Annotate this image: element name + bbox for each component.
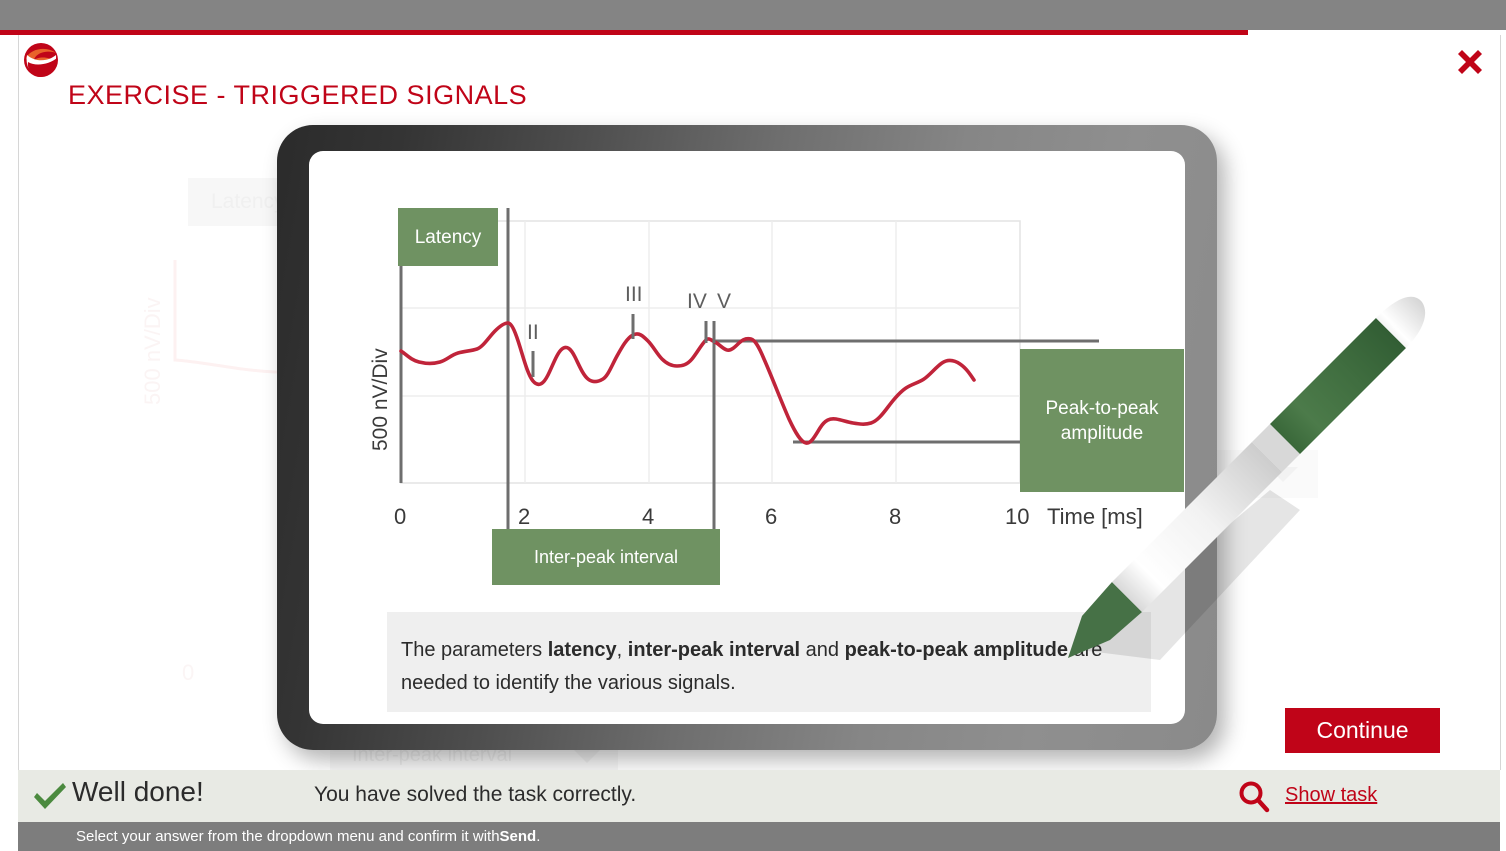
- explanation-part2: ,: [617, 639, 628, 661]
- background-x-origin-label: 0: [182, 660, 194, 686]
- x-tick-8: 8: [889, 504, 901, 530]
- background-y-axis-label: 500 nV/Div: [140, 297, 166, 405]
- explanation-box: The parameters latency, inter-peak inter…: [387, 612, 1151, 712]
- x-tick-6: 6: [765, 504, 777, 530]
- feedback-status: Well done!: [72, 776, 204, 808]
- stylus-pen-icon: [1050, 240, 1450, 685]
- hint-bar: Select your answer from the dropdown men…: [18, 822, 1500, 851]
- checkmark-icon: [32, 782, 68, 812]
- top-gray-bar: [0, 0, 1506, 30]
- continue-button[interactable]: Continue: [1285, 708, 1440, 753]
- peak-label-iv: IV: [687, 290, 707, 314]
- peak-label-iii: III: [625, 283, 643, 307]
- search-icon[interactable]: [1237, 780, 1271, 814]
- explanation-bold1: latency: [548, 639, 617, 661]
- feedback-message: You have solved the task correctly.: [314, 783, 636, 807]
- y-axis-label: 500 nV/Div: [369, 348, 393, 451]
- tag-inter-peak-interval: Inter-peak interval: [492, 529, 720, 585]
- explanation-part1: The parameters: [401, 639, 548, 661]
- hint-prefix: Select your answer from the dropdown men…: [76, 828, 500, 845]
- show-task-link[interactable]: Show task: [1285, 784, 1377, 807]
- explanation-part3: and: [800, 639, 844, 661]
- chevron-down-icon: [574, 750, 600, 763]
- explanation-bold2: inter-peak interval: [628, 639, 800, 661]
- tag-latency: Latency: [398, 208, 498, 266]
- x-tick-2: 2: [518, 504, 530, 530]
- feedback-bar: Well done! You have solved the task corr…: [18, 770, 1500, 822]
- x-tick-10: 10: [1005, 504, 1029, 530]
- peak-label-ii: II: [527, 321, 539, 345]
- hint-suffix: .: [536, 828, 540, 845]
- app-root: EXERCISE - TRIGGERED SIGNALS Latency 500…: [0, 0, 1506, 851]
- x-tick-0: 0: [394, 504, 406, 530]
- x-tick-4: 4: [642, 504, 654, 530]
- hint-bold: Send: [500, 828, 537, 845]
- explanation-bold3: peak-to-peak amplitude: [845, 639, 1068, 661]
- content-right-edge: [1500, 35, 1501, 770]
- peak-label-v: V: [717, 290, 731, 314]
